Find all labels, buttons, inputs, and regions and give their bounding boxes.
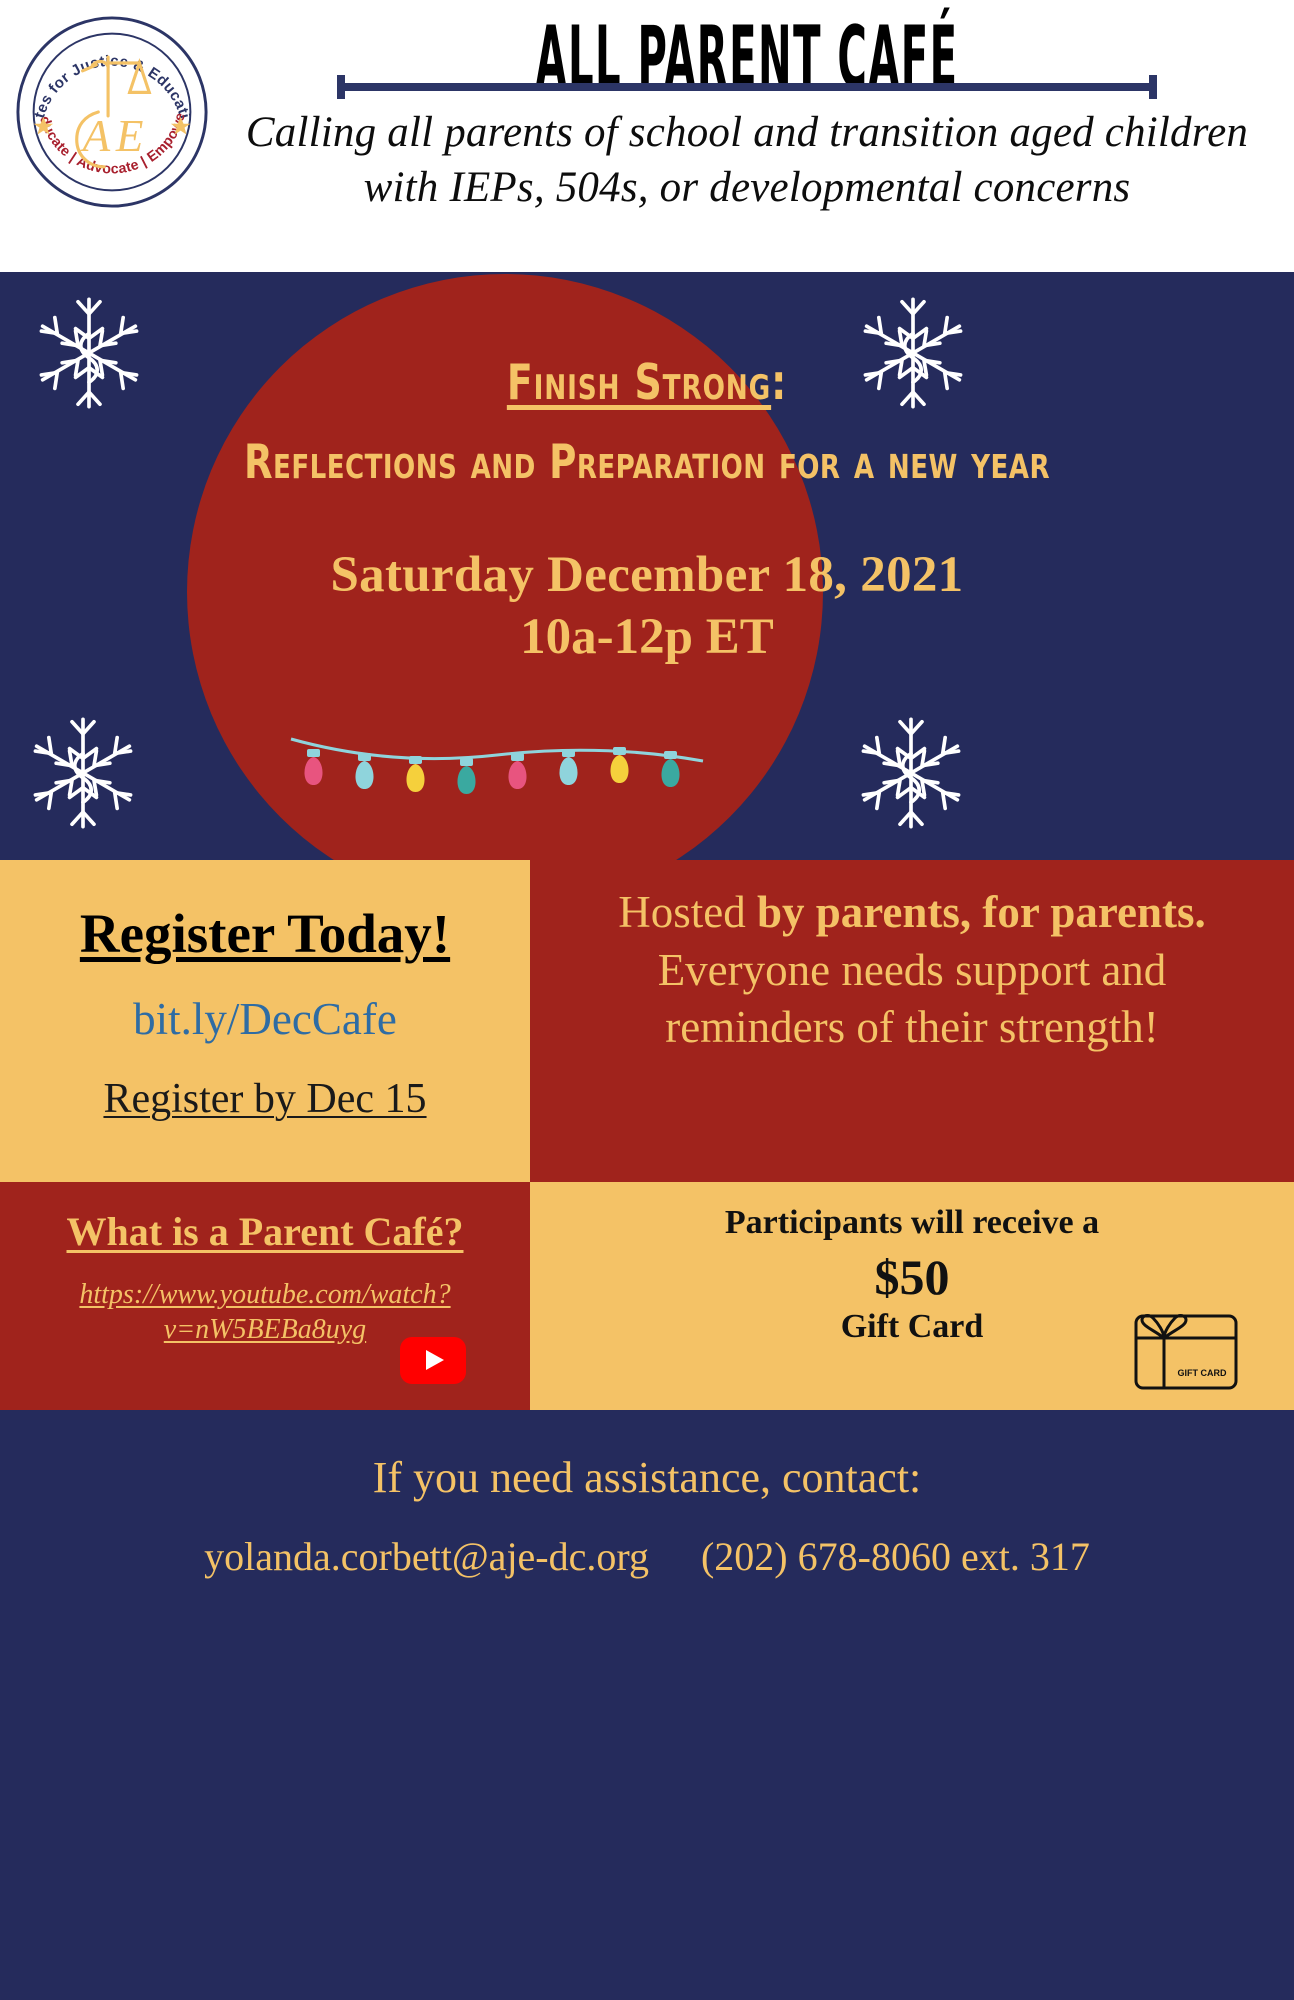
register-deadline: Register by Dec 15 [0, 1075, 530, 1123]
hero-title: Finish Strong: [91, 354, 1204, 411]
contact-title: If you need assistance, contact: [0, 1452, 1294, 1503]
gift-intro: Participants will receive a [530, 1204, 1294, 1242]
string-lights-icon [287, 727, 707, 807]
what-is-parent-cafe-panel: What is a Parent Café? https://www.youtu… [0, 1182, 530, 1410]
what-is-title: What is a Parent Café? [0, 1208, 530, 1255]
hosted-bold: by parents, for parents. [757, 887, 1206, 937]
contact-details: yolanda.corbett@aje-dc.org (202) 678-806… [0, 1533, 1294, 1580]
gift-amount: $50 [530, 1248, 1294, 1306]
hosted-text: Hosted by parents, for parents. Everyone… [530, 860, 1294, 1057]
gift-card-icon: GIFT CARD [1134, 1314, 1238, 1390]
contact-panel: If you need assistance, contact: yolanda… [0, 1410, 1294, 2000]
svg-text:E: E [115, 111, 144, 161]
event-time: 10a-12p ET [0, 608, 1294, 666]
contact-phone[interactable]: (202) 678-8060 ext. 317 [701, 1533, 1090, 1580]
hosted-panel: Hosted by parents, for parents. Everyone… [530, 860, 1294, 1182]
flyer-poster: Advocates for Justice & Education, Inc. … [0, 0, 1294, 2000]
svg-text:GIFT CARD: GIFT CARD [1178, 1368, 1227, 1378]
hero-subtitle: Reflections and Preparation for a new ye… [78, 435, 1217, 490]
hosted-rest: Everyone needs support and reminders of … [658, 945, 1167, 1053]
contact-email[interactable]: yolanda.corbett@aje-dc.org [204, 1533, 649, 1580]
hero-title-colon: : [771, 354, 787, 411]
header-subtitle: Calling all parents of school and transi… [220, 105, 1274, 215]
event-date: Saturday December 18, 2021 [0, 546, 1294, 604]
aje-logo: Advocates for Justice & Education, Inc. … [14, 14, 210, 210]
svg-text:A: A [80, 111, 111, 161]
header-text-block: ALL PARENT CAFÉ Calling all parents of s… [220, 18, 1274, 215]
hero-section: Finish Strong: Reflections and Preparati… [0, 272, 1294, 860]
hero-title-underlined: Finish Strong [507, 354, 771, 411]
gift-card-panel: Participants will receive a $50 Gift Car… [530, 1182, 1294, 1410]
youtube-play-icon[interactable] [400, 1337, 466, 1384]
register-panel: Register Today! bit.ly/DecCafe Register … [0, 860, 530, 1182]
register-link[interactable]: bit.ly/DecCafe [0, 993, 530, 1045]
register-title: Register Today! [0, 902, 530, 965]
hosted-lead: Hosted [618, 887, 757, 937]
title-divider [337, 83, 1157, 91]
